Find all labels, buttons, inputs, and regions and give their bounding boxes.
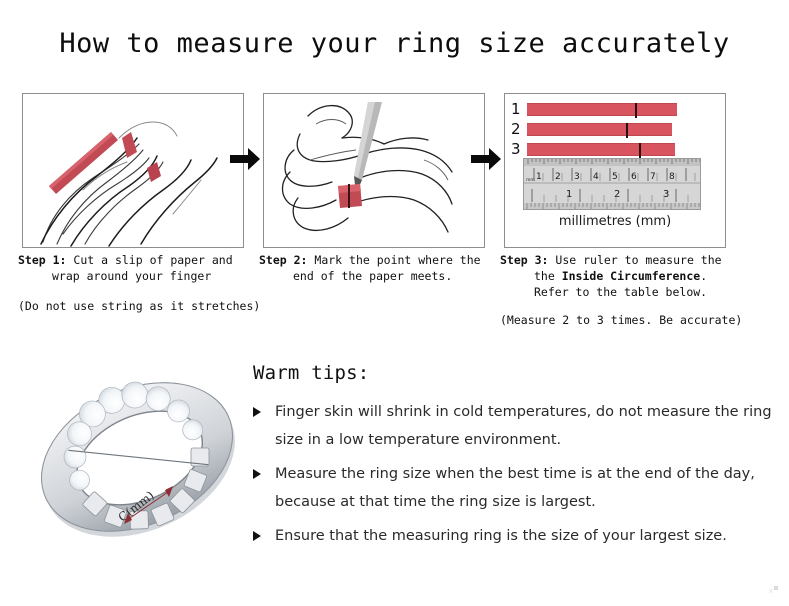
step-panel-2 [263,93,485,248]
diamond-eternity-ring-photo: D(mm) C(mm) [28,352,246,558]
ruler-unit-label: millimetres (mm) [505,214,725,229]
ruler-scales: 1 2 3 4 5 6 7 8 mm 1 2 [524,159,701,210]
strip-bar-1 [527,103,677,116]
step-1-note: (Do not use string as it stretches) [18,298,266,314]
svg-text:7: 7 [650,172,656,182]
strip-number-2: 2 [511,122,527,136]
step-3-text-2-prefix: the [534,269,562,283]
svg-text:4: 4 [593,172,599,182]
step-captions-row: Step 1: Cut a slip of paper and wrap aro… [0,252,789,342]
hand-marking-paper-with-pen-illustration [264,94,484,247]
step-2-caption: Step 2: Mark the point where the end of … [259,252,507,284]
step-1-caption-line-2: wrap around your finger [18,268,266,284]
step-3-illustration-panel: 1 2 3 [504,93,726,248]
warm-tip-item: Finger skin will shrink in cold temperat… [253,398,773,454]
step-panel-1 [22,93,244,248]
strip-tick-mark-2 [626,123,628,138]
step-3-note: (Measure 2 to 3 times. Be accurate) [500,312,748,328]
ring-diagram: D(mm) C(mm) [28,352,246,558]
svg-text:6: 6 [631,172,637,182]
step-3-label: Step 3: [500,253,548,267]
svg-text:mm: mm [526,178,535,183]
corner-watermark [769,586,779,594]
strip-number-1: 1 [511,102,527,116]
strip-tick-mark-1 [635,103,637,118]
measured-strip-3: 3 [511,142,675,156]
arrow-between-step1-step2 [228,145,262,173]
inside-circumference-emphasis: Inside Circumference [562,269,700,283]
step-2-label: Step 2: [259,253,307,267]
strip-bar-2 [527,123,672,136]
step-3-caption-line-1: Step 3: Use ruler to measure the [500,252,748,268]
arrow-right-icon [469,145,503,173]
svg-text:5: 5 [612,172,618,182]
warm-tip-text: Finger skin will shrink in cold temperat… [275,398,773,454]
arrow-right-icon [228,145,262,173]
step-2-caption-text: Step 2: Mark the point where the end of … [259,252,507,284]
step-1-caption: Step 1: Cut a slip of paper and wrap aro… [18,252,266,314]
step-1-text-1: Cut a slip of paper and [73,253,232,267]
step-2-illustration-panel [263,93,485,248]
step-3-caption-text: Step 3: Use ruler to measure the the Ins… [500,252,748,300]
step-panel-3: 1 2 3 [504,93,726,248]
step-3-text-1: Use ruler to measure the [555,253,721,267]
step-1-label: Step 1: [18,253,66,267]
svg-text:8: 8 [669,172,675,182]
step-3-caption-line-2: the Inside Circumference. [500,268,748,284]
warm-tip-text: Measure the ring size when the best time… [275,460,773,516]
svg-text:1: 1 [536,172,542,182]
paper-slip-on-finger-shape [338,184,362,208]
step-1-caption-text: Step 1: Cut a slip of paper and wrap aro… [18,252,266,284]
step-2-text-1: Mark the point where the [314,253,480,267]
svg-text:1: 1 [566,189,572,200]
svg-text:2: 2 [614,189,620,200]
triangle-bullet-icon [253,531,261,541]
ruler-graphic: 1 2 3 4 5 6 7 8 mm 1 2 [523,158,701,210]
page-title: How to measure your ring size accurately [0,28,789,59]
arrow-between-step2-step3 [469,145,503,173]
steps-row: 1 2 3 [0,93,789,253]
hand-with-paper-slip-illustration [23,94,243,247]
svg-text:3: 3 [574,172,580,182]
step-3-caption: Step 3: Use ruler to measure the the Ins… [500,252,748,328]
triangle-bullet-icon [253,407,261,417]
step-1-caption-line-1: Step 1: Cut a slip of paper and [18,252,266,268]
strip-bar-3 [527,143,675,156]
step-3-text-2-suffix: . [700,269,707,283]
step-2-caption-line-2: end of the paper meets. [259,268,507,284]
measured-strip-1: 1 [511,102,677,116]
step-3-caption-line-3: Refer to the table below. [500,284,748,300]
warm-tips-section: Warm tips: Finger skin will shrink in co… [253,362,773,556]
step-2-caption-line-1: Step 2: Mark the point where the [259,252,507,268]
strip-tick-mark-3 [639,143,641,158]
warm-tip-text: Ensure that the measuring ring is the si… [275,522,773,550]
triangle-bullet-icon [253,469,261,479]
strip-number-3: 3 [511,142,527,156]
warm-tips-heading: Warm tips: [253,362,773,384]
warm-tip-item: Measure the ring size when the best time… [253,460,773,516]
warm-tip-item: Ensure that the measuring ring is the si… [253,522,773,550]
measured-strip-2: 2 [511,122,672,136]
svg-text:2: 2 [555,172,561,182]
step-1-illustration-panel [22,93,244,248]
